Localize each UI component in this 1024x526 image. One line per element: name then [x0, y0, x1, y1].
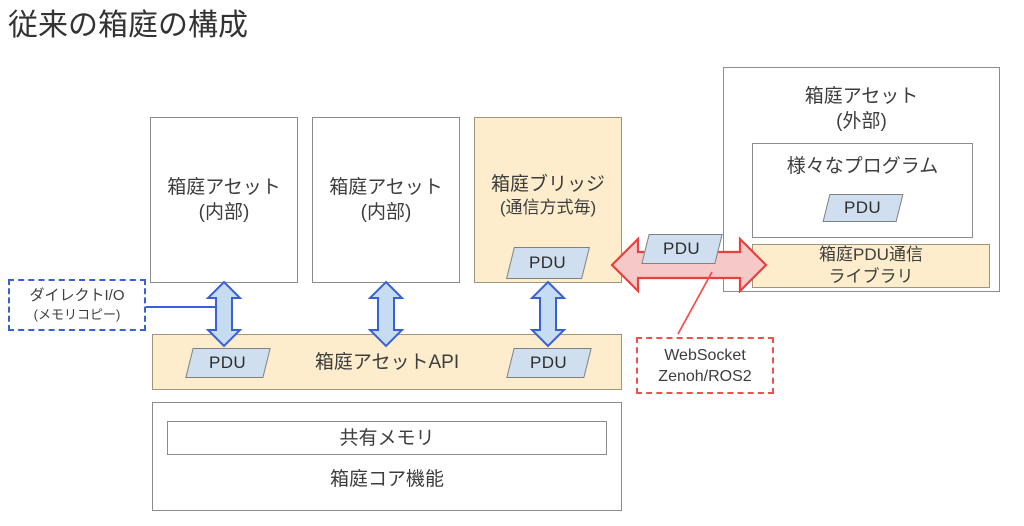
diagram-canvas: 従来の箱庭の構成 箱庭アセット (内部) 箱庭アセット (内部) 箱庭ブリッジ … [0, 0, 1024, 526]
asset-1-label: 箱庭アセット [167, 175, 281, 200]
pdu-api-right: PDU [506, 348, 591, 378]
asset-api-label: 箱庭アセットAPI [315, 350, 459, 375]
asset-2-sublabel: (内部) [361, 200, 412, 225]
pdu-bridge-label: PDU [529, 253, 566, 273]
pdu-program: PDU [823, 194, 904, 222]
note-protocols-line-2: Zenoh/ROS2 [658, 366, 751, 387]
asset-box-internal-2: 箱庭アセット (内部) [312, 117, 460, 283]
pdu-api-left: PDU [185, 348, 270, 378]
pdu-library-line-1: 箱庭PDU通信 [819, 244, 923, 266]
note-protocols-line-1: WebSocket [664, 345, 746, 366]
pdu-link-label: PDU [663, 239, 700, 259]
program-label: 様々なプログラム [787, 154, 938, 179]
note-direct-io: ダイレクトI/O (メモリコピー) [8, 279, 146, 331]
pdu-bridge: PDU [506, 247, 590, 279]
bridge-label: 箱庭ブリッジ [491, 172, 605, 197]
pdu-library-line-2: ライブラリ [829, 266, 914, 288]
pdu-library-box: 箱庭PDU通信 ライブラリ [752, 244, 990, 288]
pdu-api-right-label: PDU [530, 353, 567, 373]
core-box: 箱庭コア機能 [152, 402, 622, 511]
pdu-program-label: PDU [844, 198, 881, 218]
core-label: 箱庭コア機能 [330, 467, 444, 492]
pdu-link: PDU [641, 234, 722, 264]
program-box: 様々なプログラム [752, 143, 973, 238]
asset-1-sublabel: (内部) [199, 200, 250, 225]
shared-memory-label: 共有メモリ [339, 426, 434, 451]
shared-memory-box: 共有メモリ [167, 421, 607, 455]
note-direct-io-line-1: ダイレクトI/O [29, 286, 124, 306]
note-direct-io-line-2: (メモリコピー) [34, 306, 121, 324]
external-asset-label: 箱庭アセット [805, 84, 919, 109]
note-protocols: WebSocket Zenoh/ROS2 [636, 337, 774, 394]
bridge-sublabel: (通信方式毎) [500, 197, 596, 219]
external-asset-sublabel: (外部) [836, 109, 887, 134]
asset-2-label: 箱庭アセット [329, 175, 443, 200]
asset-box-internal-1: 箱庭アセット (内部) [150, 117, 298, 283]
pdu-api-left-label: PDU [209, 353, 246, 373]
